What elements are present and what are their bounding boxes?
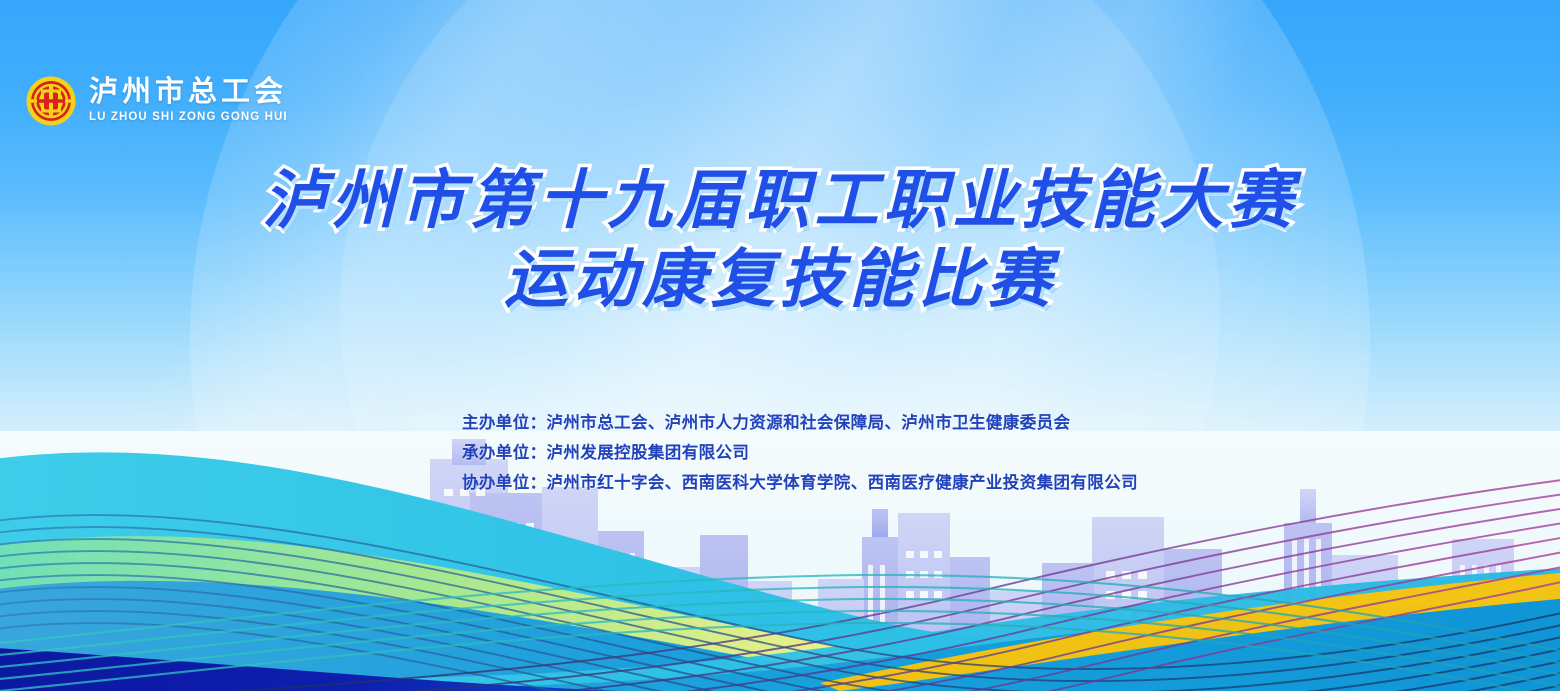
- event-banner: 泸州市总工会 LU ZHOU SHI ZONG GONG HUI 泸州市第十九届…: [0, 0, 1560, 691]
- organizer-undertaker: 承办单位：泸州发展控股集团有限公司: [462, 438, 1138, 468]
- organizer-list: 主办单位：泸州市总工会、泸州市人力资源和社会保障局、泸州市卫生健康委员会 承办单…: [462, 408, 1138, 498]
- organizer-co-host: 协办单位：泸州市红十字会、西南医科大学体育学院、西南医疗健康产业投资集团有限公司: [462, 468, 1138, 498]
- logo-name-cn: 泸州市总工会: [89, 78, 288, 107]
- organization-logo: 泸州市总工会 LU ZHOU SHI ZONG GONG HUI: [26, 76, 288, 126]
- union-emblem-icon: [26, 76, 76, 126]
- logo-name-en: LU ZHOU SHI ZONG GONG HUI: [89, 112, 288, 124]
- title-line-1: 泸州市第十九届职工职业技能大赛: [0, 168, 1560, 233]
- title-line-2: 运动康复技能比赛: [0, 247, 1560, 312]
- organizer-host: 主办单位：泸州市总工会、泸州市人力资源和社会保障局、泸州市卫生健康委员会: [462, 408, 1138, 438]
- banner-title-group: 泸州市第十九届职工职业技能大赛 运动康复技能比赛: [0, 168, 1560, 313]
